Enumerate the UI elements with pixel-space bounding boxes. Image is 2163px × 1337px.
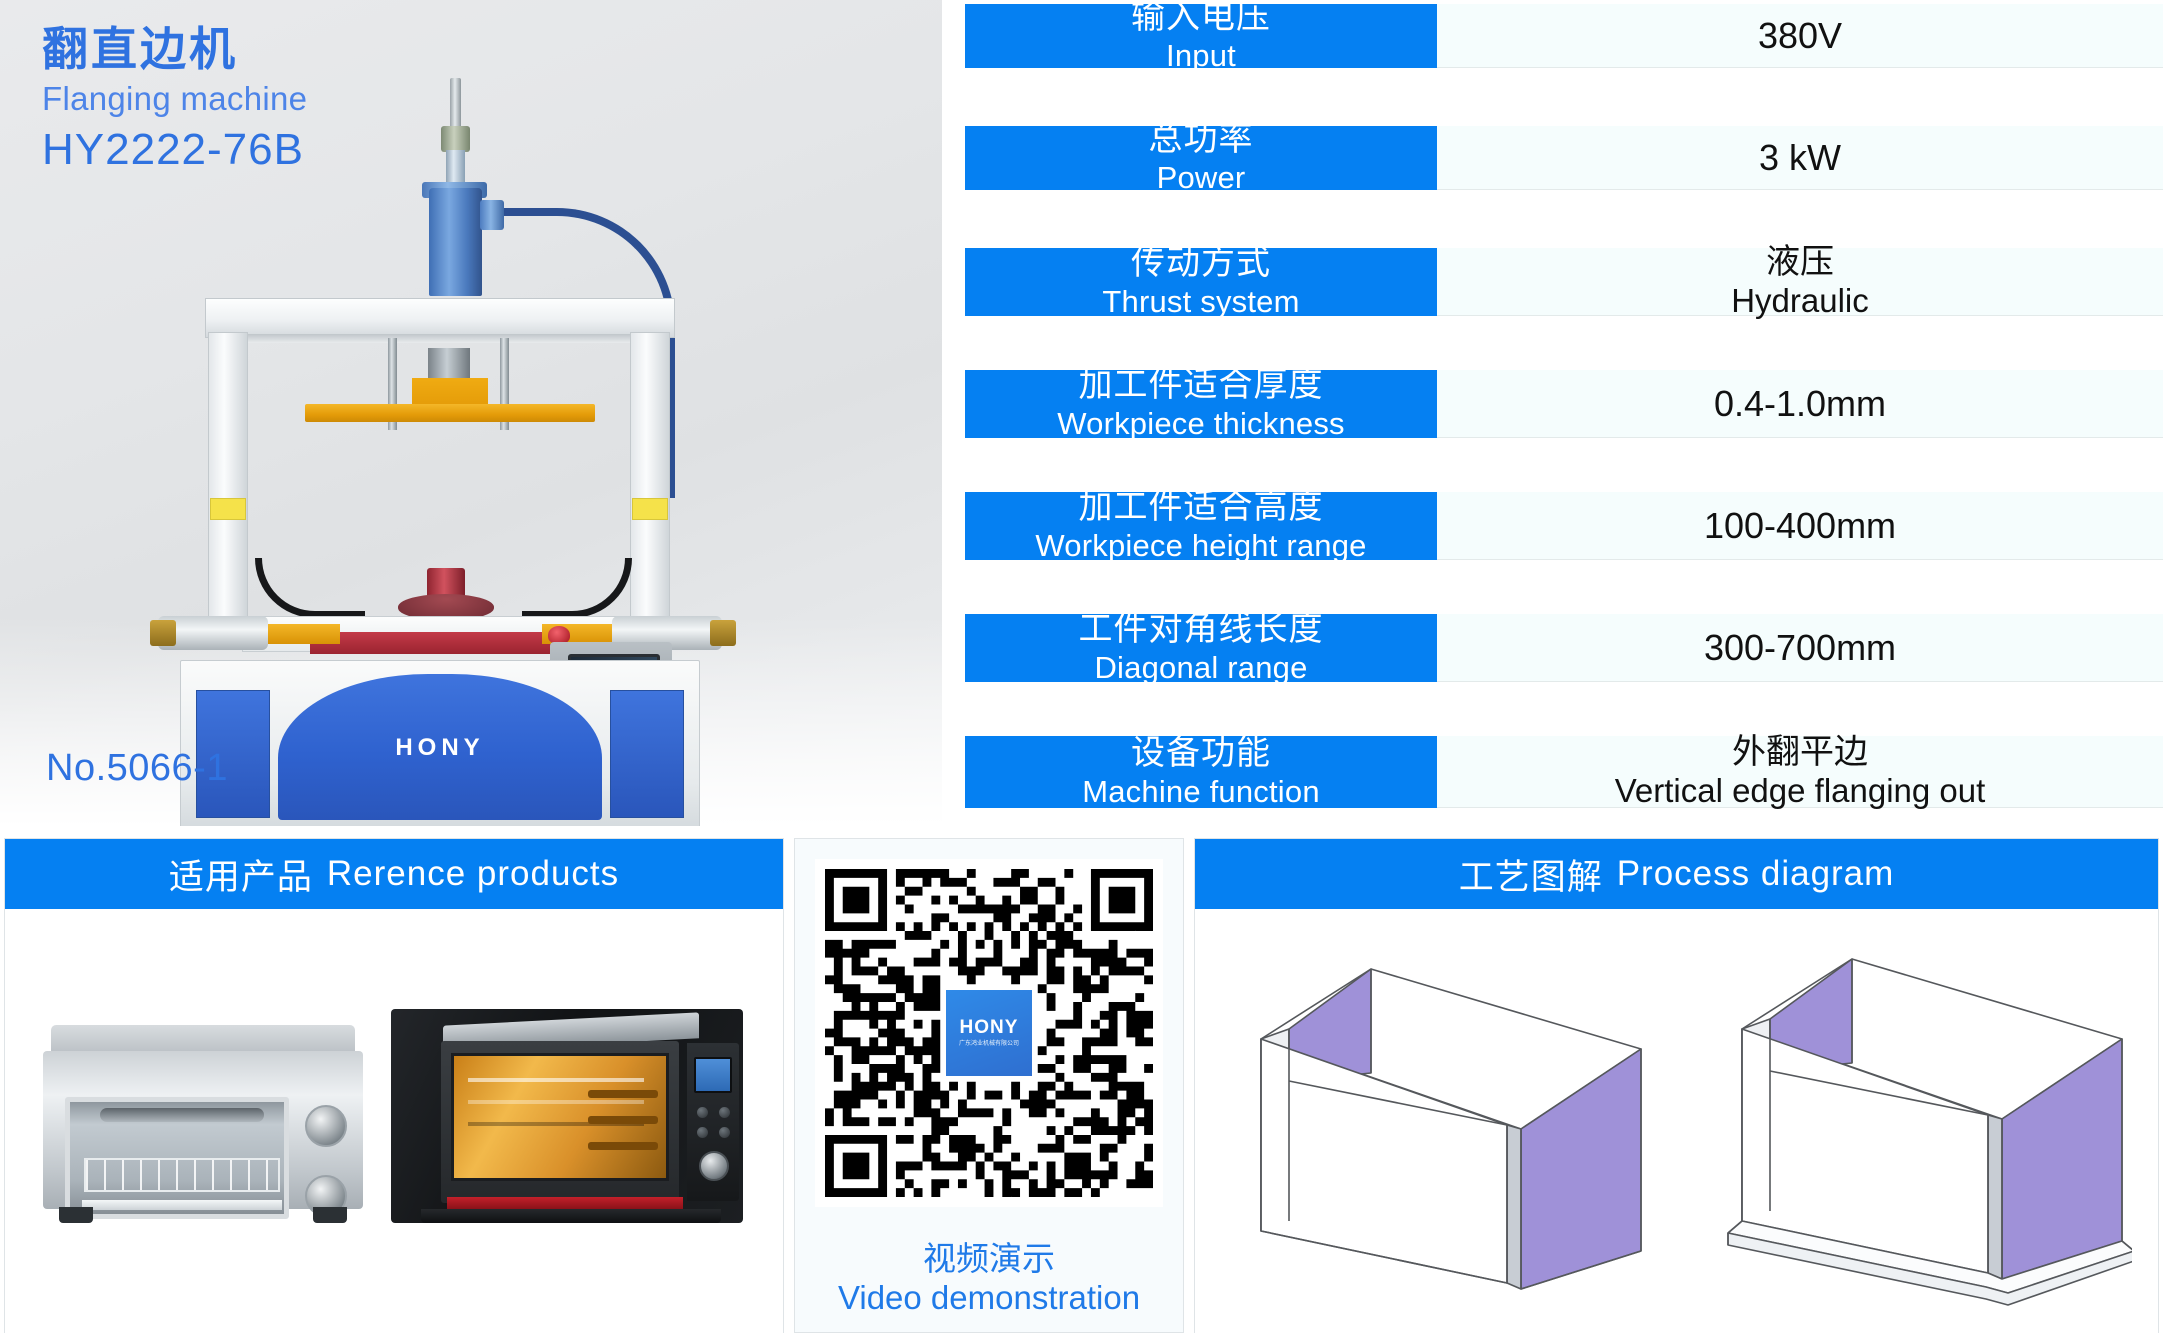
video-demonstration-panel: HONY 广东鸿业机械有限公司 视频演示 Video demonstration [794,838,1184,1333]
oven-legs [59,1207,347,1223]
product-photo-panel: 翻直边机 Flanging machine HY2222-76B [0,0,942,826]
specification-table: 输入电压 Input 380V 总功率 Power 3 kW 传动方式 Thru… [965,0,2163,826]
heating-element-icon [100,1108,264,1122]
oven-knob-icon [305,1105,347,1147]
table-row: 加工件适合高度 Workpiece height range 100-400mm [965,492,2163,560]
qr-logo-brand: HONY [960,1017,1019,1039]
oven-button-icon [719,1127,730,1138]
video-caption: 视频演示 Video demonstration [795,1239,1183,1318]
brass-fitting-left [150,620,176,646]
machine-cabinet: HONY [180,660,700,826]
spec-value-text: 380V [1758,15,1842,57]
spec-key-en: Workpiece thickness [1057,406,1345,442]
photo-number: No.5066-1 [46,747,228,790]
spec-key-cn: 传动方式 [1131,244,1271,283]
spec-value: 液压 Hydraulic [1437,248,2163,316]
spec-value: 3 kW [1437,126,2163,190]
cabinet-door-right [610,690,684,818]
table-row: 总功率 Power 3 kW [965,126,2163,190]
spec-key-cn: 输入电压 [1131,0,1271,38]
spec-key: 设备功能 Machine function [965,736,1437,808]
process-diagram-body [1195,909,2158,1333]
table-row: 设备功能 Machine function 外翻平边 Vertical edge… [965,736,2163,808]
spec-key-cn: 加工件适合高度 [1079,488,1324,527]
spec-key-cn: 总功率 [1149,120,1254,159]
gantry-beam-shadow [220,334,660,343]
diagram-after-flanging-out [1702,921,2132,1321]
process-diagram-header: 工艺图解 Process diagram [1195,839,2158,909]
spec-value-text: 100-400mm [1704,505,1896,547]
cylinder-cap-icon [441,126,470,152]
spec-key-en: Power [1157,160,1246,196]
spec-value: 380V [1437,4,2163,68]
reference-products-header-en: Rerence products [327,854,619,894]
spec-key-en: Input [1166,38,1236,74]
press-cross-bar [305,404,595,422]
reference-products-header-cn: 适用产品 [169,849,313,900]
brass-fitting-right [710,620,736,646]
spec-value-cn: 液压 [1766,243,1834,282]
reference-products-panel: 适用产品 Rerence products [4,838,784,1333]
reference-products-header: 适用产品 Rerence products [5,839,783,909]
product-model: HY2222-76B [42,122,307,177]
hydraulic-hose-left [255,558,365,618]
warning-label-right [632,498,668,520]
oven-body [43,1051,363,1209]
product-title-cn: 翻直边机 [42,22,307,76]
machine-brand-logo: HONY [278,734,602,762]
table-row: 输入电压 Input 380V [965,4,2163,68]
qr-code-wrapper[interactable]: HONY 广东鸿业机械有限公司 [815,859,1163,1207]
spec-key: 加工件适合厚度 Workpiece thickness [965,370,1437,438]
cabinet-arch-panel: HONY [278,674,602,820]
oven-red-trim [447,1197,683,1209]
black-electric-oven-image [391,1009,743,1241]
spec-value-en: Hydraulic [1731,282,1869,320]
title-block: 翻直边机 Flanging machine HY2222-76B [42,22,307,177]
spec-value-text: 0.4-1.0mm [1714,383,1886,425]
heating-element-icon [588,1090,658,1098]
spec-key-en: Diagonal range [1094,650,1307,686]
qr-code-image[interactable]: HONY 广东鸿业机械有限公司 [825,869,1153,1197]
qr-center-logo: HONY 广东鸿业机械有限公司 [946,990,1032,1076]
spec-key: 总功率 Power [965,126,1437,190]
hydraulic-cylinder-icon [429,188,482,296]
process-diagram-header-cn: 工艺图解 [1459,849,1603,900]
video-caption-cn: 视频演示 [795,1239,1183,1279]
gantry-top-beam [205,298,675,338]
table-row: 加工件适合厚度 Workpiece thickness 0.4-1.0mm [965,370,2163,438]
spec-value-text: 300-700mm [1704,627,1896,669]
qr-logo-company: 广东鸿业机械有限公司 [959,1041,1019,1049]
silver-toaster-oven-image [43,1025,363,1225]
spec-key-cn: 设备功能 [1131,734,1271,773]
gantry-column-left [208,332,248,632]
diagram-before-flanging [1221,921,1651,1321]
clamp-left [262,624,340,644]
gantry-column-right [630,332,670,632]
oven-leg-icon [313,1207,347,1223]
oven-rack-icon [468,1078,644,1082]
product-title-en: Flanging machine [42,78,307,121]
process-diagram-panel: 工艺图解 Process diagram [1194,838,2159,1333]
spec-key-cn: 加工件适合厚度 [1079,366,1324,405]
oven-lcd-display [694,1057,732,1093]
reference-products-body [5,909,783,1333]
spec-value-text: 3 kW [1759,137,1841,179]
spec-key-en: Workpiece height range [1035,528,1366,564]
oven-control-panel [687,1043,739,1201]
oven-door-glass-lit [451,1053,669,1181]
spec-value: 100-400mm [1437,492,2163,560]
oven-button-icon [697,1107,708,1118]
oven-button-icon [719,1107,730,1118]
oven-dial-icon [699,1151,729,1181]
oven-button-icon [697,1127,708,1138]
oven-leg-icon [59,1207,93,1223]
spec-key: 输入电压 Input [965,4,1437,68]
spec-value: 0.4-1.0mm [1437,370,2163,438]
spec-value-en: Vertical edge flanging out [1615,772,1986,810]
spec-key-cn: 工件对角线长度 [1079,610,1324,649]
spec-key: 工件对角线长度 Diagonal range [965,614,1437,682]
spec-key-en: Machine function [1082,774,1320,810]
work-table-red-plate [310,632,570,654]
table-row: 传动方式 Thrust system 液压 Hydraulic [965,248,2163,316]
spec-key: 传动方式 Thrust system [965,248,1437,316]
warning-label-left [210,498,246,520]
bottom-band: 适用产品 Rerence products [0,838,2163,1337]
cylinder-valve-icon [480,200,504,230]
product-spec-sheet: 翻直边机 Flanging machine HY2222-76B [0,0,2163,1337]
oven-rack-icon [84,1158,280,1192]
spec-value: 外翻平边 Vertical edge flanging out [1437,736,2163,808]
oven-door-glass [65,1097,289,1219]
oven-door-frame [441,1041,679,1203]
video-caption-en: Video demonstration [795,1278,1183,1318]
oven-base [421,1209,721,1223]
process-diagram-header-en: Process diagram [1617,854,1895,894]
cylinder-rod-icon [450,78,461,132]
spec-key-en: Thrust system [1102,284,1299,320]
spec-key: 加工件适合高度 Workpiece height range [965,492,1437,560]
spec-value-cn: 外翻平边 [1732,733,1868,772]
table-row: 工件对角线长度 Diagonal range 300-700mm [965,614,2163,682]
hydraulic-hose-right [522,558,632,618]
spec-value: 300-700mm [1437,614,2163,682]
